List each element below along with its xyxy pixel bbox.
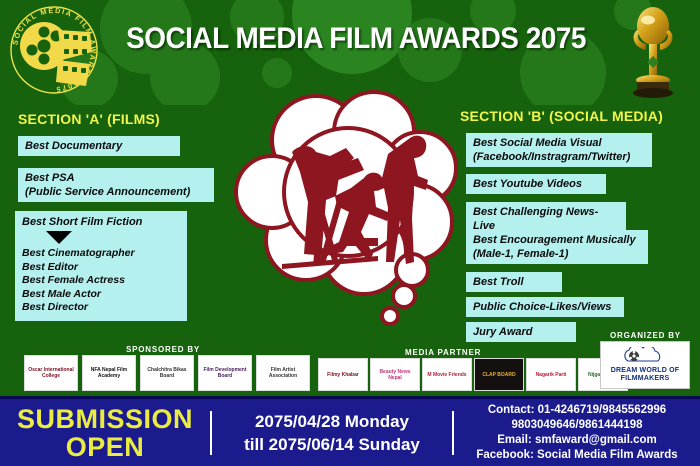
sponsor-logo-tile[interactable]: Film Development Board bbox=[198, 355, 252, 391]
media-partner-logo-tile[interactable]: CLAP BOARD bbox=[474, 358, 524, 391]
award-subitem-male-actor[interactable]: Best Male Actor bbox=[22, 288, 180, 302]
chevron-down-icon bbox=[46, 231, 72, 244]
award-item-best-social-media-visual[interactable]: Best Social Media Visual (Facebook/Instr… bbox=[466, 133, 652, 167]
award-item-best-troll[interactable]: Best Troll bbox=[466, 272, 562, 292]
page-title: SOCIAL MEDIA FILM AWARDS 2075 bbox=[124, 22, 589, 56]
submission-line-1: SUBMISSION bbox=[17, 405, 193, 433]
sponsor-name: Film Development Board bbox=[199, 366, 251, 380]
sponsor-logo-tile[interactable]: NFA Nepal Film Academy bbox=[82, 355, 136, 391]
sponsor-name: Oscar International College bbox=[25, 366, 77, 380]
media-partner-logo-tile[interactable]: Filmy Khabar bbox=[318, 358, 368, 391]
media-partner-name: CLAP BOARD bbox=[481, 371, 516, 379]
media-partner-name: Nagarik Parti bbox=[535, 371, 568, 379]
organizer-name: DREAM WORLD OF FILMMAKERS bbox=[601, 367, 689, 384]
contact-phone-2[interactable]: 9803049646/9861444198 bbox=[476, 418, 677, 433]
organizer-cloud-logo-icon bbox=[620, 347, 670, 367]
organized-by-label: ORGANIZED BY bbox=[610, 331, 681, 340]
thought-bubble-illustration bbox=[224, 82, 474, 332]
section-b-heading: SECTION 'B' (SOCIAL MEDIA) bbox=[460, 108, 663, 124]
award-subitem-female-actress[interactable]: Best Female Actress bbox=[22, 274, 180, 288]
sponsor-name: NFA Nepal Film Academy bbox=[83, 366, 135, 380]
award-item-jury-award[interactable]: Jury Award bbox=[466, 322, 576, 342]
contact-email[interactable]: Email: smfaward@gmail.com bbox=[476, 433, 677, 448]
award-item-best-youtube-videos[interactable]: Best Youtube Videos bbox=[466, 174, 606, 194]
contact-info: Contact: 01-4246719/9845562996 980304964… bbox=[454, 399, 700, 466]
sponsored-by-label: SPONSORED BY bbox=[126, 345, 200, 354]
media-partner-logo-tile[interactable]: Beauty News Nepal bbox=[370, 358, 420, 391]
poster-footer: SUBMISSION OPEN 2075/04/28 Monday till 2… bbox=[0, 396, 700, 466]
media-partner-name: M Movie Friends bbox=[426, 371, 467, 379]
poster-root: SOCIAL MEDIA FILM AWARDS 2075 bbox=[0, 0, 700, 466]
media-partner-name: Beauty News Nepal bbox=[371, 368, 419, 382]
section-a-heading: SECTION 'A' (FILMS) bbox=[18, 111, 160, 127]
organizer-card[interactable]: DREAM WORLD OF FILMMAKERS bbox=[600, 341, 690, 389]
media-partner-logo-tile[interactable]: M Movie Friends bbox=[422, 358, 472, 391]
media-partner-label: MEDIA PARTNER bbox=[405, 348, 481, 357]
award-group-best-short-film-fiction[interactable]: Best Short Film Fiction Best Cinematogra… bbox=[15, 211, 187, 321]
award-item-best-documentary[interactable]: Best Documentary bbox=[18, 136, 180, 156]
award-item-best-encouragement-musically[interactable]: Best Encouragement Musically (Male-1, Fe… bbox=[466, 230, 648, 264]
sponsor-logo-tile[interactable]: Oscar International College bbox=[24, 355, 78, 391]
award-item-best-psa[interactable]: Best PSA (Public Service Announcement) bbox=[18, 168, 214, 202]
film-reel-logo-icon: SOCIAL MEDIA FILM AWARDS 2075 bbox=[6, 2, 102, 98]
sponsor-name: Film Artist Association bbox=[257, 366, 309, 380]
media-partner-name: Filmy Khabar bbox=[326, 371, 360, 379]
sponsor-logo-tile[interactable]: Film Artist Association bbox=[256, 355, 310, 391]
sponsor-name: Chalchitra Bikas Board bbox=[141, 366, 193, 380]
submission-line-2: OPEN bbox=[17, 433, 193, 461]
award-subitem-editor[interactable]: Best Editor bbox=[22, 261, 180, 275]
trophy-icon bbox=[624, 4, 682, 104]
submission-dates: 2075/04/28 Monday till 2075/06/14 Sunday bbox=[212, 399, 452, 466]
submission-status: SUBMISSION OPEN bbox=[0, 399, 210, 466]
date-line-1: 2075/04/28 Monday bbox=[244, 410, 420, 433]
sponsor-logo-tile[interactable]: Chalchitra Bikas Board bbox=[140, 355, 194, 391]
award-group-heading: Best Short Film Fiction bbox=[22, 215, 180, 229]
media-partner-logo-tile[interactable]: Nagarik Parti bbox=[526, 358, 576, 391]
award-subitem-director[interactable]: Best Director bbox=[22, 301, 180, 315]
date-line-2: till 2075/06/14 Sunday bbox=[244, 433, 420, 456]
award-item-public-choice[interactable]: Public Choice-Likes/Views bbox=[466, 297, 624, 317]
award-subitem-cinematographer[interactable]: Best Cinematographer bbox=[22, 247, 180, 261]
contact-facebook[interactable]: Facebook: Social Media Film Awards bbox=[476, 448, 677, 463]
contact-phone-1[interactable]: Contact: 01-4246719/9845562996 bbox=[476, 403, 677, 418]
